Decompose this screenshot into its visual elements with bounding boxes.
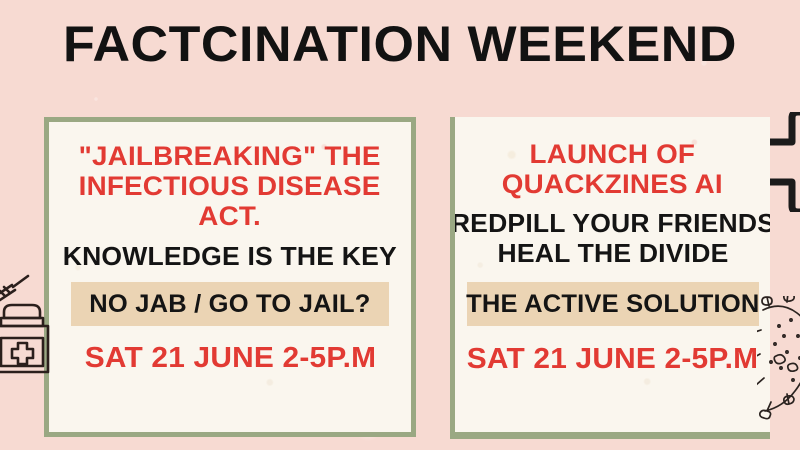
event-subline-group: REDPILL YOUR FRIENDS HEAL THE DIVIDE bbox=[454, 208, 770, 268]
event-datetime: SAT 21 JUNE 2-5P.M bbox=[84, 342, 375, 374]
event-card-jailbreaking: "JAILBREAKING" THE INFECTIOUS DISEASE AC… bbox=[44, 117, 416, 437]
event-subline: REDPILL YOUR FRIENDS bbox=[450, 208, 770, 238]
event-headline-line: INFECTIOUS DISEASE bbox=[79, 171, 381, 201]
event-subline: HEAL THE DIVIDE bbox=[450, 238, 770, 268]
event-headline-line: ACT. bbox=[79, 201, 381, 231]
event-headline: LAUNCH OF QUACKZINES AI bbox=[505, 139, 720, 199]
event-headline-line: QUACKZINES AI bbox=[502, 169, 723, 199]
event-headline-line: LAUNCH OF bbox=[502, 139, 723, 169]
poster-canvas: FACTCINATION WEEKEND "JAILBREAKING" THE … bbox=[0, 0, 800, 450]
event-headline-line: "JAILBREAKING" THE bbox=[79, 141, 381, 171]
event-headline: "JAILBREAKING" THE INFECTIOUS DISEASE AC… bbox=[83, 141, 376, 231]
event-highlight-band: THE ACTIVE SOLUTION bbox=[467, 282, 759, 326]
event-band-text: THE ACTIVE SOLUTION bbox=[466, 290, 759, 318]
medical-cross-icon bbox=[770, 112, 800, 212]
event-highlight-band: NO JAB / GO TO JAIL? bbox=[71, 282, 389, 326]
event-card-quackzines: LAUNCH OF QUACKZINES AI REDPILL YOUR FRI… bbox=[450, 117, 770, 439]
event-band-text: NO JAB / GO TO JAIL? bbox=[89, 290, 370, 318]
page-title: FACTCINATION WEEKEND bbox=[0, 16, 800, 72]
event-subline: KNOWLEDGE IS THE KEY bbox=[63, 241, 397, 271]
event-datetime: SAT 21 JUNE 2-5P.M bbox=[467, 343, 758, 375]
